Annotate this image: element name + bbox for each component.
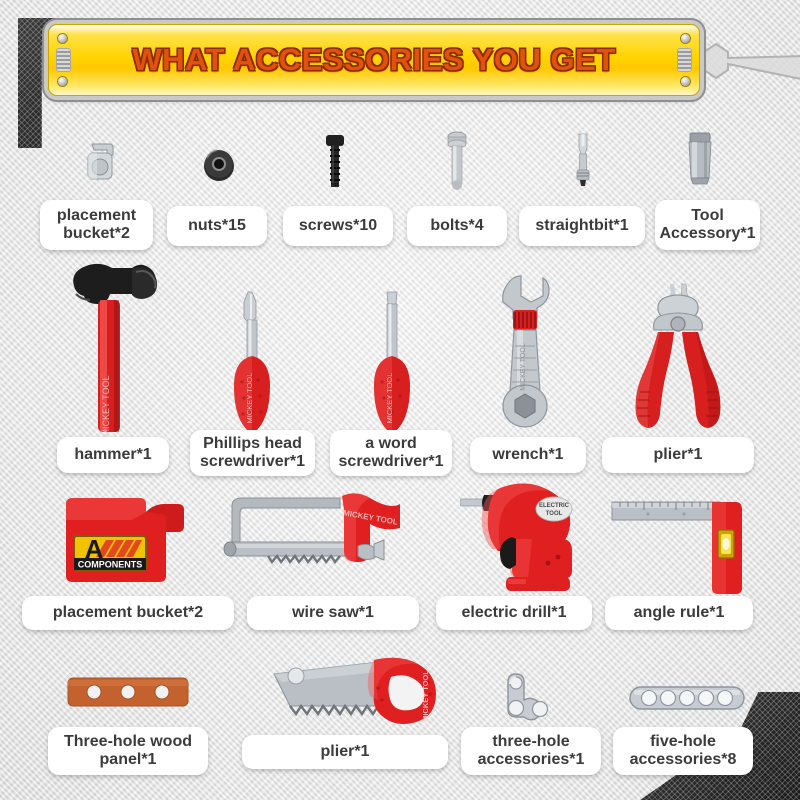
hand-saw-icon: MICKEY TOOL [258,650,444,745]
svg-text:MICKEY TOOL: MICKEY TOOL [520,343,527,391]
svg-text:ELECTRIC: ELECTRIC [539,503,570,509]
header-banner: WHAT ACCESSORIES YOU GET [48,24,700,96]
l-bracket-icon [502,672,558,731]
label-plier: plier*1 [602,437,754,473]
svg-text:MICKEY TOOL: MICKEY TOOL [385,373,394,424]
label-phillips-screwdriver: Phillips head screwdriver*1 [190,430,315,476]
hacksaw-icon: MICKEY TOOL [218,488,404,593]
socket-sleeve-icon [682,131,718,196]
wood-panel-icon [66,672,192,717]
label-straightbit: straightbit*1 [519,206,645,246]
label-hammer: hammer*1 [57,437,169,473]
svg-text:TOOL: TOOL [546,511,563,517]
svg-text:COMPONENTS: COMPONENTS [78,560,143,570]
claw-hammer-icon: MICKEY TOOL [62,256,172,441]
flathead-screwdriver-icon: MICKEY TOOL [362,290,422,443]
banner-screw-icon [681,77,690,86]
label-hand-saw: plier*1 [242,735,448,769]
label-placement-bucket-bracket: placement bucket*2 [40,200,153,250]
bolt-icon [443,130,471,201]
label-wire-saw: wire saw*1 [247,596,419,630]
power-drill-icon: ELECTRIC TOOL [460,477,590,600]
svg-text:MICKEY TOOL: MICKEY TOOL [245,373,254,424]
label-screws: screws*10 [283,206,393,246]
pliers-icon [630,282,726,437]
label-five-hole-accessories: five-hole accessories*8 [613,727,753,775]
svg-text:MICKEY TOOL: MICKEY TOOL [421,670,430,722]
svg-text:MICKEY TOOL: MICKEY TOOL [101,375,111,436]
wrench-silhouette-icon [686,22,800,112]
flat-strip-icon [628,682,746,719]
banner-screw-icon [58,77,67,86]
straight-bit-icon [570,132,596,199]
label-nuts: nuts*15 [167,206,267,246]
label-tool-accessory: Tool Accessory*1 [655,200,760,250]
phillips-screwdriver-icon: MICKEY TOOL [222,290,282,443]
nut-icon [200,148,238,189]
label-three-hole-accessories: three-hole accessories*1 [461,727,601,775]
page-title: WHAT ACCESSORIES YOU GET [49,42,699,78]
adjustable-wrench-icon: MICKEY TOOL [485,272,565,437]
label-placement-bucket: placement bucket*2 [22,596,234,630]
label-flat-screwdriver: a word screwdriver*1 [330,430,452,476]
infographic-page: WHAT ACCESSORIES YOU GET [0,0,800,800]
label-angle-rule: angle rule*1 [605,596,753,630]
screw-icon [320,133,350,200]
label-bolts: bolts*4 [407,206,507,246]
label-wrench: wrench*1 [470,437,586,473]
try-square-icon [608,486,758,599]
label-electric-drill: electric drill*1 [436,596,592,630]
metal-bracket-icon [78,140,122,195]
label-three-hole-wood-panel: Three-hole wood panel*1 [48,727,208,775]
tool-bucket-icon: A COMPONENTS [58,490,184,595]
